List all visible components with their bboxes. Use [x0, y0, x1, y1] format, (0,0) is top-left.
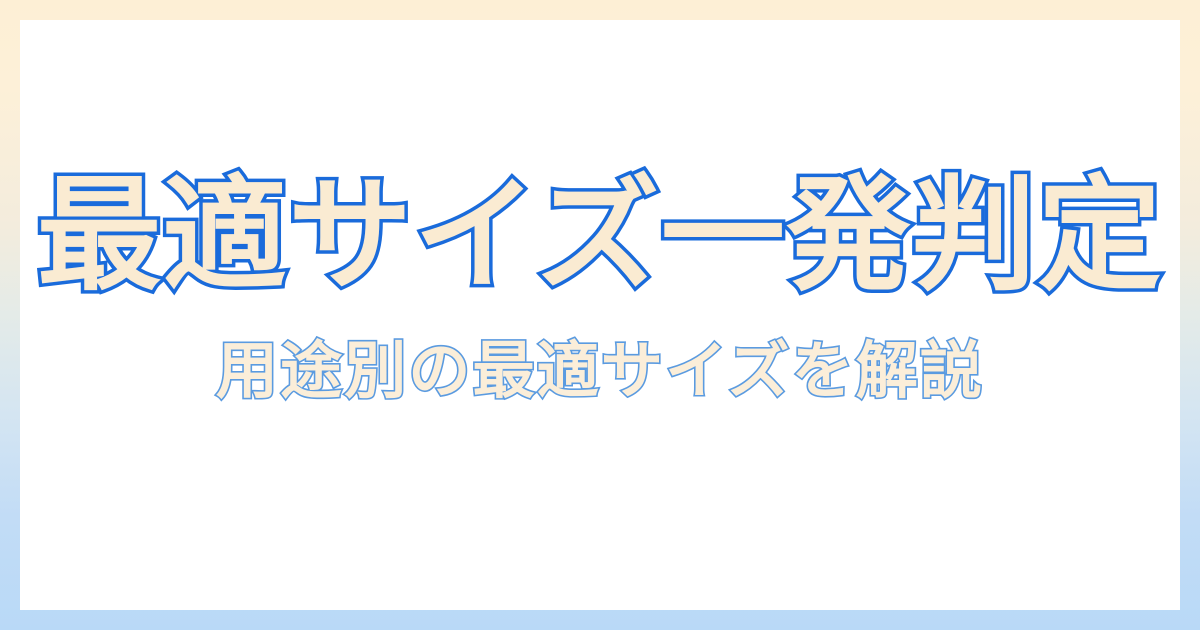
- hero-title: 最適サイズ一発判定 最適サイズ一発判定: [20, 161, 1180, 311]
- hero-text-block: 最適サイズ一発判定 最適サイズ一発判定 用途別の最適サイズを解説 用途別の最適サ…: [20, 161, 1180, 413]
- hero-subtitle: 用途別の最適サイズを解説 用途別の最適サイズを解説: [20, 329, 1180, 413]
- hero-subtitle-fill-layer: 用途別の最適サイズを解説: [20, 329, 1180, 413]
- eyecatch-canvas: 最適サイズ一発判定 最適サイズ一発判定 用途別の最適サイズを解説 用途別の最適サ…: [0, 0, 1200, 630]
- inner-white-card: 最適サイズ一発判定 最適サイズ一発判定 用途別の最適サイズを解説 用途別の最適サ…: [20, 20, 1180, 610]
- hero-title-fill-layer: 最適サイズ一発判定: [20, 161, 1180, 311]
